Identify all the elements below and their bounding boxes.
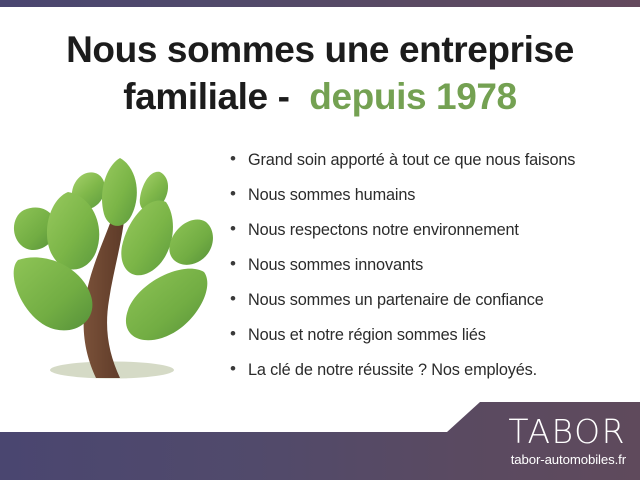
bullet-marker-icon: • bbox=[230, 358, 248, 380]
list-item: • La clé de notre réussite ? Nos employé… bbox=[230, 358, 630, 393]
headline-accent-since-1978: depuis 1978 bbox=[309, 76, 516, 117]
bullet-marker-icon: • bbox=[230, 148, 248, 170]
brand-domain-label: tabor-automobiles.fr bbox=[466, 453, 626, 466]
bullet-marker-icon: • bbox=[230, 253, 248, 275]
page-title: Nous sommes une entreprise familiale - d… bbox=[0, 26, 640, 121]
leaf-right-lower bbox=[126, 269, 207, 341]
list-item: • Grand soin apporté à tout ce que nous … bbox=[230, 148, 630, 183]
list-item: • Nous et notre région sommes liés bbox=[230, 323, 630, 358]
brand-wordmark: TABOR bbox=[466, 415, 626, 448]
list-item: • Nous sommes humains bbox=[230, 183, 630, 218]
bullet-marker-icon: • bbox=[230, 323, 248, 345]
list-item-label: Nous sommes un partenaire de confiance bbox=[248, 288, 544, 312]
headline-line-2-plain: familiale - bbox=[123, 76, 289, 117]
headline-line-2: familiale - depuis 1978 bbox=[52, 73, 588, 120]
bullet-marker-icon: • bbox=[230, 288, 248, 310]
list-item: • Nous respectons notre environnement bbox=[230, 218, 630, 253]
list-item-label: Nous sommes humains bbox=[248, 183, 415, 207]
list-item-label: Nous sommes innovants bbox=[248, 253, 423, 277]
list-item-label: Grand soin apporté à tout ce que nous fa… bbox=[248, 148, 575, 172]
leaf-right-mid bbox=[169, 219, 213, 264]
slide-canvas: Nous sommes une entreprise familiale - d… bbox=[0, 0, 640, 480]
headline-line-1: Nous sommes une entreprise bbox=[52, 26, 588, 73]
brand-logo[interactable]: TABOR tabor-automobiles.fr bbox=[466, 415, 626, 466]
list-item: • Nous sommes un partenaire de confiance bbox=[230, 288, 630, 323]
leaf-top-center bbox=[102, 158, 137, 226]
list-item-label: La clé de notre réussite ? Nos employés. bbox=[248, 358, 537, 382]
tree-illustration bbox=[8, 148, 222, 400]
top-accent-strip bbox=[0, 0, 640, 7]
leaf-left-lower bbox=[14, 257, 93, 330]
bullet-marker-icon: • bbox=[230, 183, 248, 205]
list-item-label: Nous respectons notre environnement bbox=[248, 218, 519, 242]
list-item-label: Nous et notre région sommes liés bbox=[248, 323, 486, 347]
bullet-marker-icon: • bbox=[230, 218, 248, 240]
benefits-list: • Grand soin apporté à tout ce que nous … bbox=[230, 148, 630, 393]
list-item: • Nous sommes innovants bbox=[230, 253, 630, 288]
